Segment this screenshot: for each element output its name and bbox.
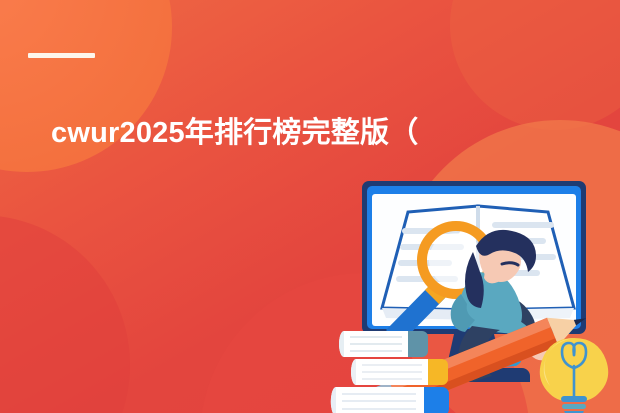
page-title: cwur2025年排行榜完整版（ — [51, 115, 418, 151]
background-blob-top-right — [450, 0, 620, 130]
stacked-books-icon — [331, 331, 449, 413]
article-cover-banner: cwur2025年排行榜完整版（ — [0, 0, 620, 413]
lightbulb-icon — [540, 338, 608, 413]
title-rule — [28, 53, 95, 58]
cover-illustration — [330, 160, 620, 413]
